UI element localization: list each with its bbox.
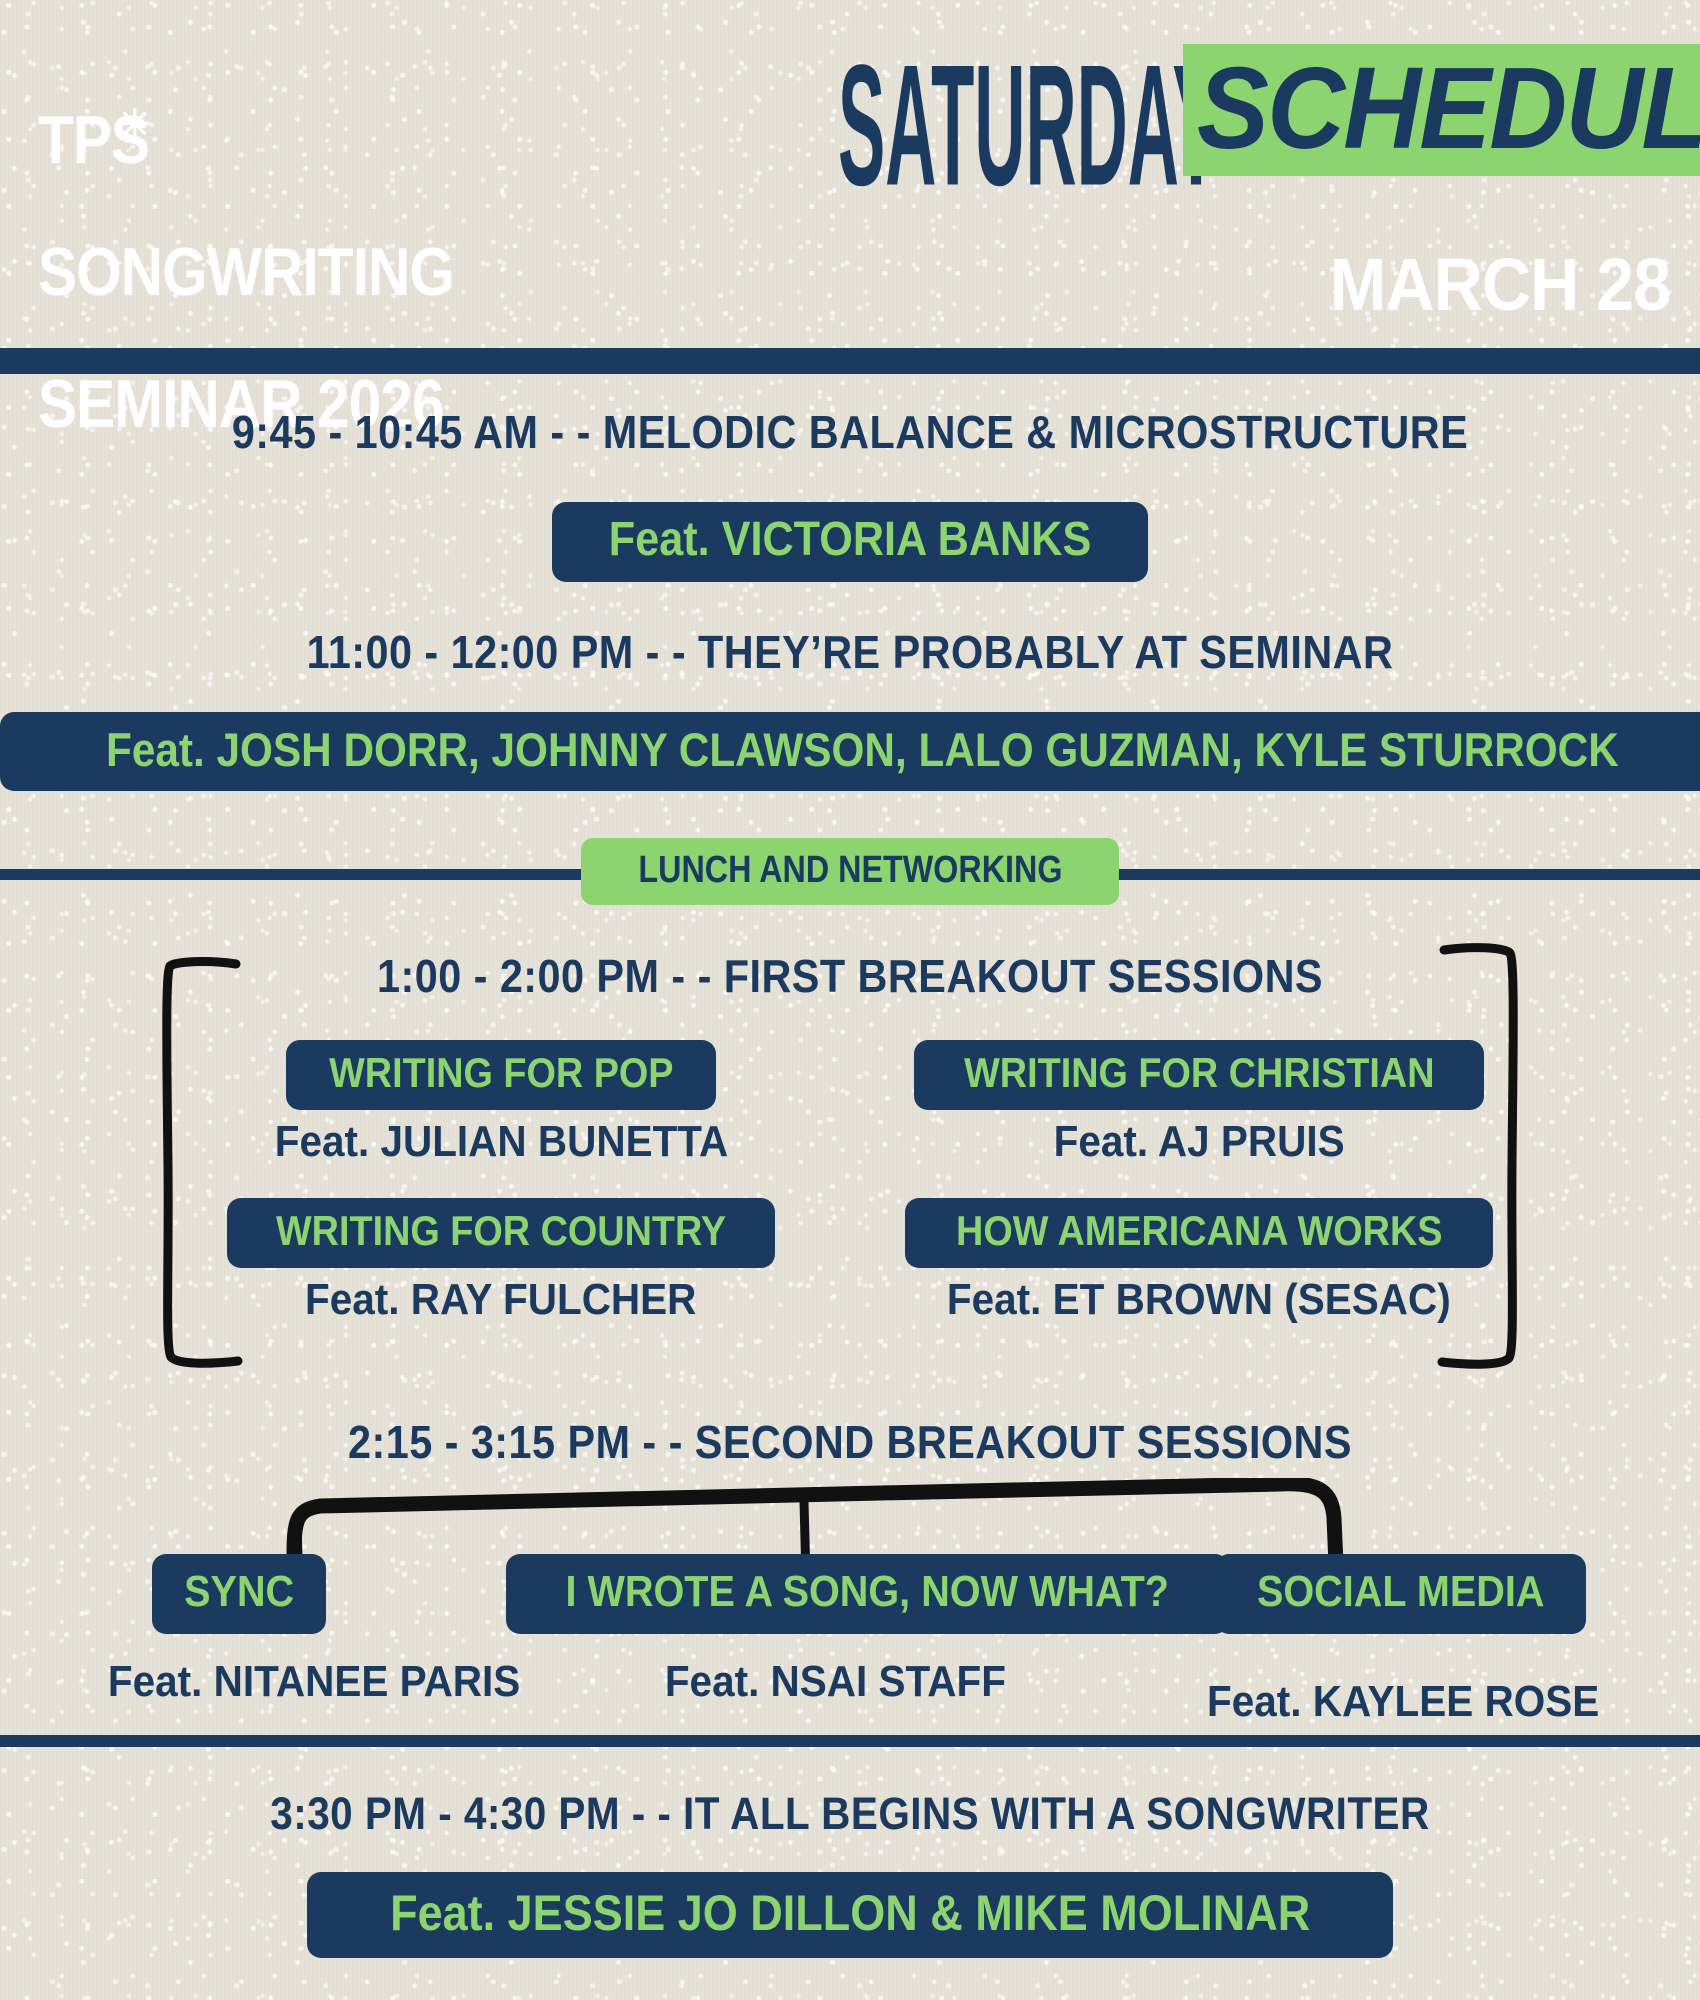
breakout-2-feature-sync-wrap: Feat. NITANEE PARIS <box>90 1660 538 1704</box>
poster-header: TPS SONGWRITING SEMINAR 2026 ✳ SATURDAY … <box>0 0 1700 348</box>
breakout-2-topic-pill-sync: SYNC <box>152 1554 326 1634</box>
logo-line-1: TPS <box>38 108 454 174</box>
breakout-2-cell-now-what: I WROTE A SONG, NOW WHAT? <box>506 1554 1229 1634</box>
breakout-1-feature-pop: Feat. JULIAN BUNETTA <box>274 1120 728 1164</box>
breakout-1-topic-pill-country: WRITING FOR COUNTRY <box>227 1198 775 1268</box>
session-3-feature-label: Feat. JESSIE JO DILLON & MIKE MOLINAR <box>390 1888 1310 1938</box>
lunch-label: LUNCH AND NETWORKING <box>638 851 1062 889</box>
schedule-highlight: SCHEDULE <box>1183 44 1700 176</box>
session-1-title: 9:45 - 10:45 AM - - MELODIC BALANCE & MI… <box>85 408 1615 456</box>
breakout-1-feature-country: Feat. RAY FULCHER <box>305 1278 696 1322</box>
breakout-1-topic-label-christian: WRITING FOR CHRISTIAN <box>964 1052 1434 1094</box>
breakout-1-cell-country: WRITING FOR COUNTRY Feat. RAY FULCHER <box>190 1198 812 1322</box>
session-3-feature-pill: Feat. JESSIE JO DILLON & MIKE MOLINAR <box>307 1872 1393 1958</box>
breakout-2-feature-now-what-wrap: Feat. NSAI STAFF <box>650 1660 1021 1704</box>
schedule-poster: TPS SONGWRITING SEMINAR 2026 ✳ SATURDAY … <box>0 0 1700 2000</box>
date-label: MARCH 28 <box>1329 248 1670 322</box>
day-label: SATURDAY <box>838 40 1220 212</box>
breakout-2-topic-label-social-media: SOCIAL MEDIA <box>1257 1570 1544 1614</box>
breakout-2-topic-label-sync: SYNC <box>184 1570 294 1614</box>
breakout-2-topic-label-now-what: I WROTE A SONG, NOW WHAT? <box>566 1570 1169 1614</box>
breakout-1-topic-label-americana: HOW AMERICANA WORKS <box>956 1210 1442 1252</box>
lunch-pill: LUNCH AND NETWORKING <box>581 838 1120 905</box>
lunch-divider-row: LUNCH AND NETWORKING <box>0 838 1700 905</box>
breakout-1-cell-pop: WRITING FOR POP Feat. JULIAN BUNETTA <box>190 1040 812 1164</box>
breakout-1-title: 1:00 - 2:00 PM - - FIRST BREAKOUT SESSIO… <box>85 952 1615 1000</box>
breakout-1-cell-christian: WRITING FOR CHRISTIAN Feat. AJ PRUIS <box>888 1040 1510 1164</box>
breakout-1-topic-pill-americana: HOW AMERICANA WORKS <box>905 1198 1494 1268</box>
breakout-2-feature-sync: Feat. NITANEE PARIS <box>108 1660 520 1704</box>
header-divider-bar <box>0 348 1700 374</box>
session-3-title: 3:30 PM - 4:30 PM - - IT ALL BEGINS WITH… <box>85 1790 1615 1837</box>
session-2-feature-label: Feat. JOSH DORR, JOHNNY CLAWSON, LALO GU… <box>106 726 1619 773</box>
breakout-1-topic-label-pop: WRITING FOR POP <box>329 1052 673 1094</box>
breakout-1-topic-pill-pop: WRITING FOR POP <box>286 1040 717 1110</box>
session-1-feature-label: Feat. VICTORIA BANKS <box>609 516 1091 564</box>
breakout-1-feature-americana: Feat. ET BROWN (SESAC) <box>947 1278 1451 1322</box>
schedule-label: SCHEDULE <box>1197 50 1700 166</box>
session-1-feature-pill: Feat. VICTORIA BANKS <box>552 502 1148 582</box>
session-2-title: 11:00 - 12:00 PM - - THEY’RE PROBABLY AT… <box>85 628 1615 676</box>
breakout-2-feature-now-what: Feat. NSAI STAFF <box>665 1660 1006 1704</box>
breakout-2-cell-sync: SYNC <box>152 1554 326 1634</box>
bottom-divider-rule <box>0 1735 1700 1747</box>
breakout-2-cell-social-media: SOCIAL MEDIA <box>1215 1554 1586 1634</box>
session-2-feature-pill: Feat. JOSH DORR, JOHNNY CLAWSON, LALO GU… <box>0 712 1700 791</box>
breakout-1-topic-pill-christian: WRITING FOR CHRISTIAN <box>914 1040 1485 1110</box>
breakout-2-topic-pill-social-media: SOCIAL MEDIA <box>1215 1554 1586 1634</box>
breakout-2-feature-social-media: Feat. KAYLEE ROSE <box>1207 1680 1599 1724</box>
asterisk-icon: ✳ <box>118 105 152 145</box>
breakout-2-topic-pill-now-what: I WROTE A SONG, NOW WHAT? <box>506 1554 1229 1634</box>
session-3-feature-row: Feat. JESSIE JO DILLON & MIKE MOLINAR <box>0 1872 1700 1958</box>
breakout-1-cell-americana: HOW AMERICANA WORKS Feat. ET BROWN (SESA… <box>888 1198 1510 1322</box>
breakout-2-title: 2:15 - 3:15 PM - - SECOND BREAKOUT SESSI… <box>85 1418 1615 1466</box>
breakout-1-grid: WRITING FOR POP Feat. JULIAN BUNETTA WRI… <box>190 1040 1510 1322</box>
breakout-2-pill-row: SYNC I WROTE A SONG, NOW WHAT? SOCIAL ME… <box>0 1554 1700 1654</box>
breakout-1-feature-christian: Feat. AJ PRUIS <box>1054 1120 1345 1164</box>
session-1-feature-row: Feat. VICTORIA BANKS <box>0 502 1700 582</box>
breakout-2-feature-social-media-wrap: Feat. KAYLEE ROSE <box>1190 1680 1616 1724</box>
logo-line-2: SONGWRITING <box>38 240 454 306</box>
session-2-feature-row: Feat. JOSH DORR, JOHNNY CLAWSON, LALO GU… <box>0 712 1700 791</box>
breakout-1-topic-label-country: WRITING FOR COUNTRY <box>276 1210 726 1252</box>
